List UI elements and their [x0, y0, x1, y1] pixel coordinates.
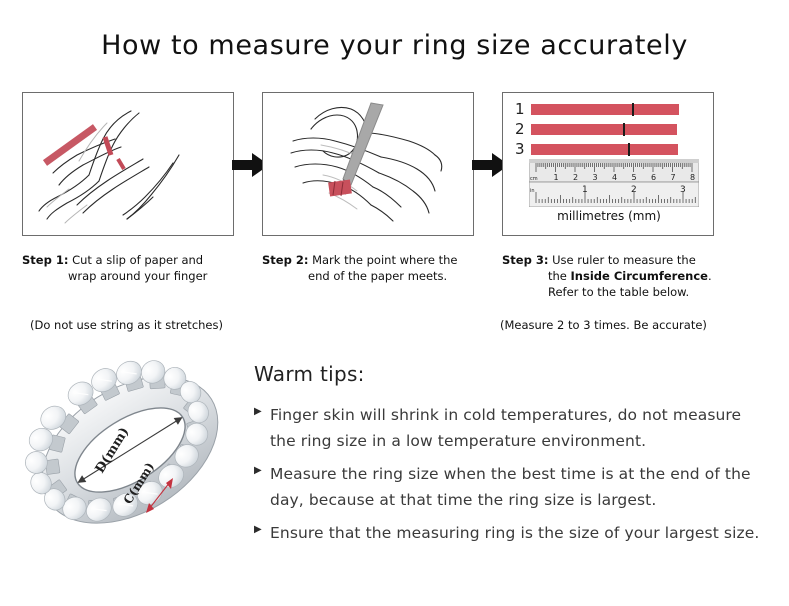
steps-row: 1 2 3 12345678cm	[0, 92, 789, 242]
step-3-line-3: Refer to the table below.	[502, 284, 764, 300]
unit-caption: millimetres (mm)	[503, 209, 714, 223]
page-title: How to measure your ring size accurately	[0, 30, 789, 61]
strip-tick-mark	[632, 103, 634, 116]
step-3-note: (Measure 2 to 3 times. Be accurate)	[500, 317, 707, 333]
svg-text:8: 8	[690, 173, 695, 182]
step-3-illustration-panel: 1 2 3 12345678cm	[502, 92, 714, 236]
svg-text:3: 3	[680, 185, 686, 195]
step-3-line-2-suffix: .	[708, 269, 712, 283]
svg-text:cm: cm	[530, 176, 538, 182]
step-2-label: Step 2:	[262, 253, 308, 267]
bullet-triangle-icon: ▶	[254, 402, 270, 417]
step-3-line-2-prefix: the	[548, 269, 571, 283]
step-1-illustration-panel	[22, 92, 234, 236]
strip-bar	[531, 144, 678, 155]
step-1-label: Step 1:	[22, 253, 68, 267]
step-2-illustration-panel	[262, 92, 474, 236]
strip-number: 3	[515, 142, 531, 157]
tip-list-item: ▶ Ensure that the measuring ring is the …	[254, 520, 766, 546]
step-2-caption: Step 2: Mark the point where the end of …	[262, 252, 494, 284]
tip-list-item: ▶ Finger skin will shrink in cold temper…	[254, 402, 766, 454]
svg-text:1: 1	[582, 185, 588, 195]
svg-text:2: 2	[631, 185, 637, 195]
step-1-note: (Do not use string as it stretches)	[30, 317, 223, 333]
measured-strip-row: 1	[515, 102, 679, 117]
measured-strip-row: 2	[515, 122, 677, 137]
strip-bar	[531, 124, 677, 135]
svg-text:6: 6	[651, 173, 656, 182]
svg-text:7: 7	[671, 173, 676, 182]
tip-text: Finger skin will shrink in cold temperat…	[270, 402, 766, 454]
svg-text:5: 5	[632, 173, 637, 182]
svg-text:1: 1	[554, 173, 559, 182]
step-3-label: Step 3:	[502, 253, 548, 267]
svg-text:4: 4	[612, 173, 617, 182]
ruler-illustration: 12345678cm 123in	[529, 159, 699, 207]
ring-measurement-figure: D(mm) C(mm)	[18, 352, 250, 548]
tip-text: Ensure that the measuring ring is the si…	[270, 520, 766, 546]
svg-text:2: 2	[573, 173, 578, 182]
warm-tips-section: Warm tips: ▶ Finger skin will shrink in …	[254, 362, 766, 553]
strip-bar	[531, 104, 679, 115]
strip-number: 2	[515, 122, 531, 137]
strip-tick-mark	[628, 143, 630, 156]
bullet-triangle-icon: ▶	[254, 520, 270, 535]
svg-text:in: in	[530, 188, 535, 194]
hand-marking-paper-with-pen-illustration	[263, 93, 473, 235]
step-2-line-2: end of the paper meets.	[262, 268, 494, 284]
measured-strip-row: 3	[515, 142, 678, 157]
step-1-line-1: Cut a slip of paper and	[72, 253, 203, 267]
step-3-line-1: Use ruler to measure the	[552, 253, 696, 267]
hand-with-paper-slip-illustration	[23, 93, 233, 235]
step-3-line-2: the Inside Circumference.	[502, 268, 764, 284]
tip-text: Measure the ring size when the best time…	[270, 461, 766, 513]
tip-list-item: ▶ Measure the ring size when the best ti…	[254, 461, 766, 513]
strip-tick-mark	[623, 123, 625, 136]
step-3-caption: Step 3: Use ruler to measure the the Ins…	[502, 252, 764, 300]
step-2-line-1: Mark the point where the	[312, 253, 457, 267]
inside-circumference-emphasis: Inside Circumference	[571, 269, 708, 283]
warm-tips-heading: Warm tips:	[254, 362, 766, 386]
eternity-ring-photo-with-measurement-labels: D(mm) C(mm)	[18, 352, 250, 548]
strip-number: 1	[515, 102, 531, 117]
svg-text:3: 3	[593, 173, 598, 182]
step-1-caption: Step 1: Cut a slip of paper and wrap aro…	[22, 252, 254, 284]
bullet-triangle-icon: ▶	[254, 461, 270, 476]
step-1-line-2: wrap around your finger	[22, 268, 254, 284]
